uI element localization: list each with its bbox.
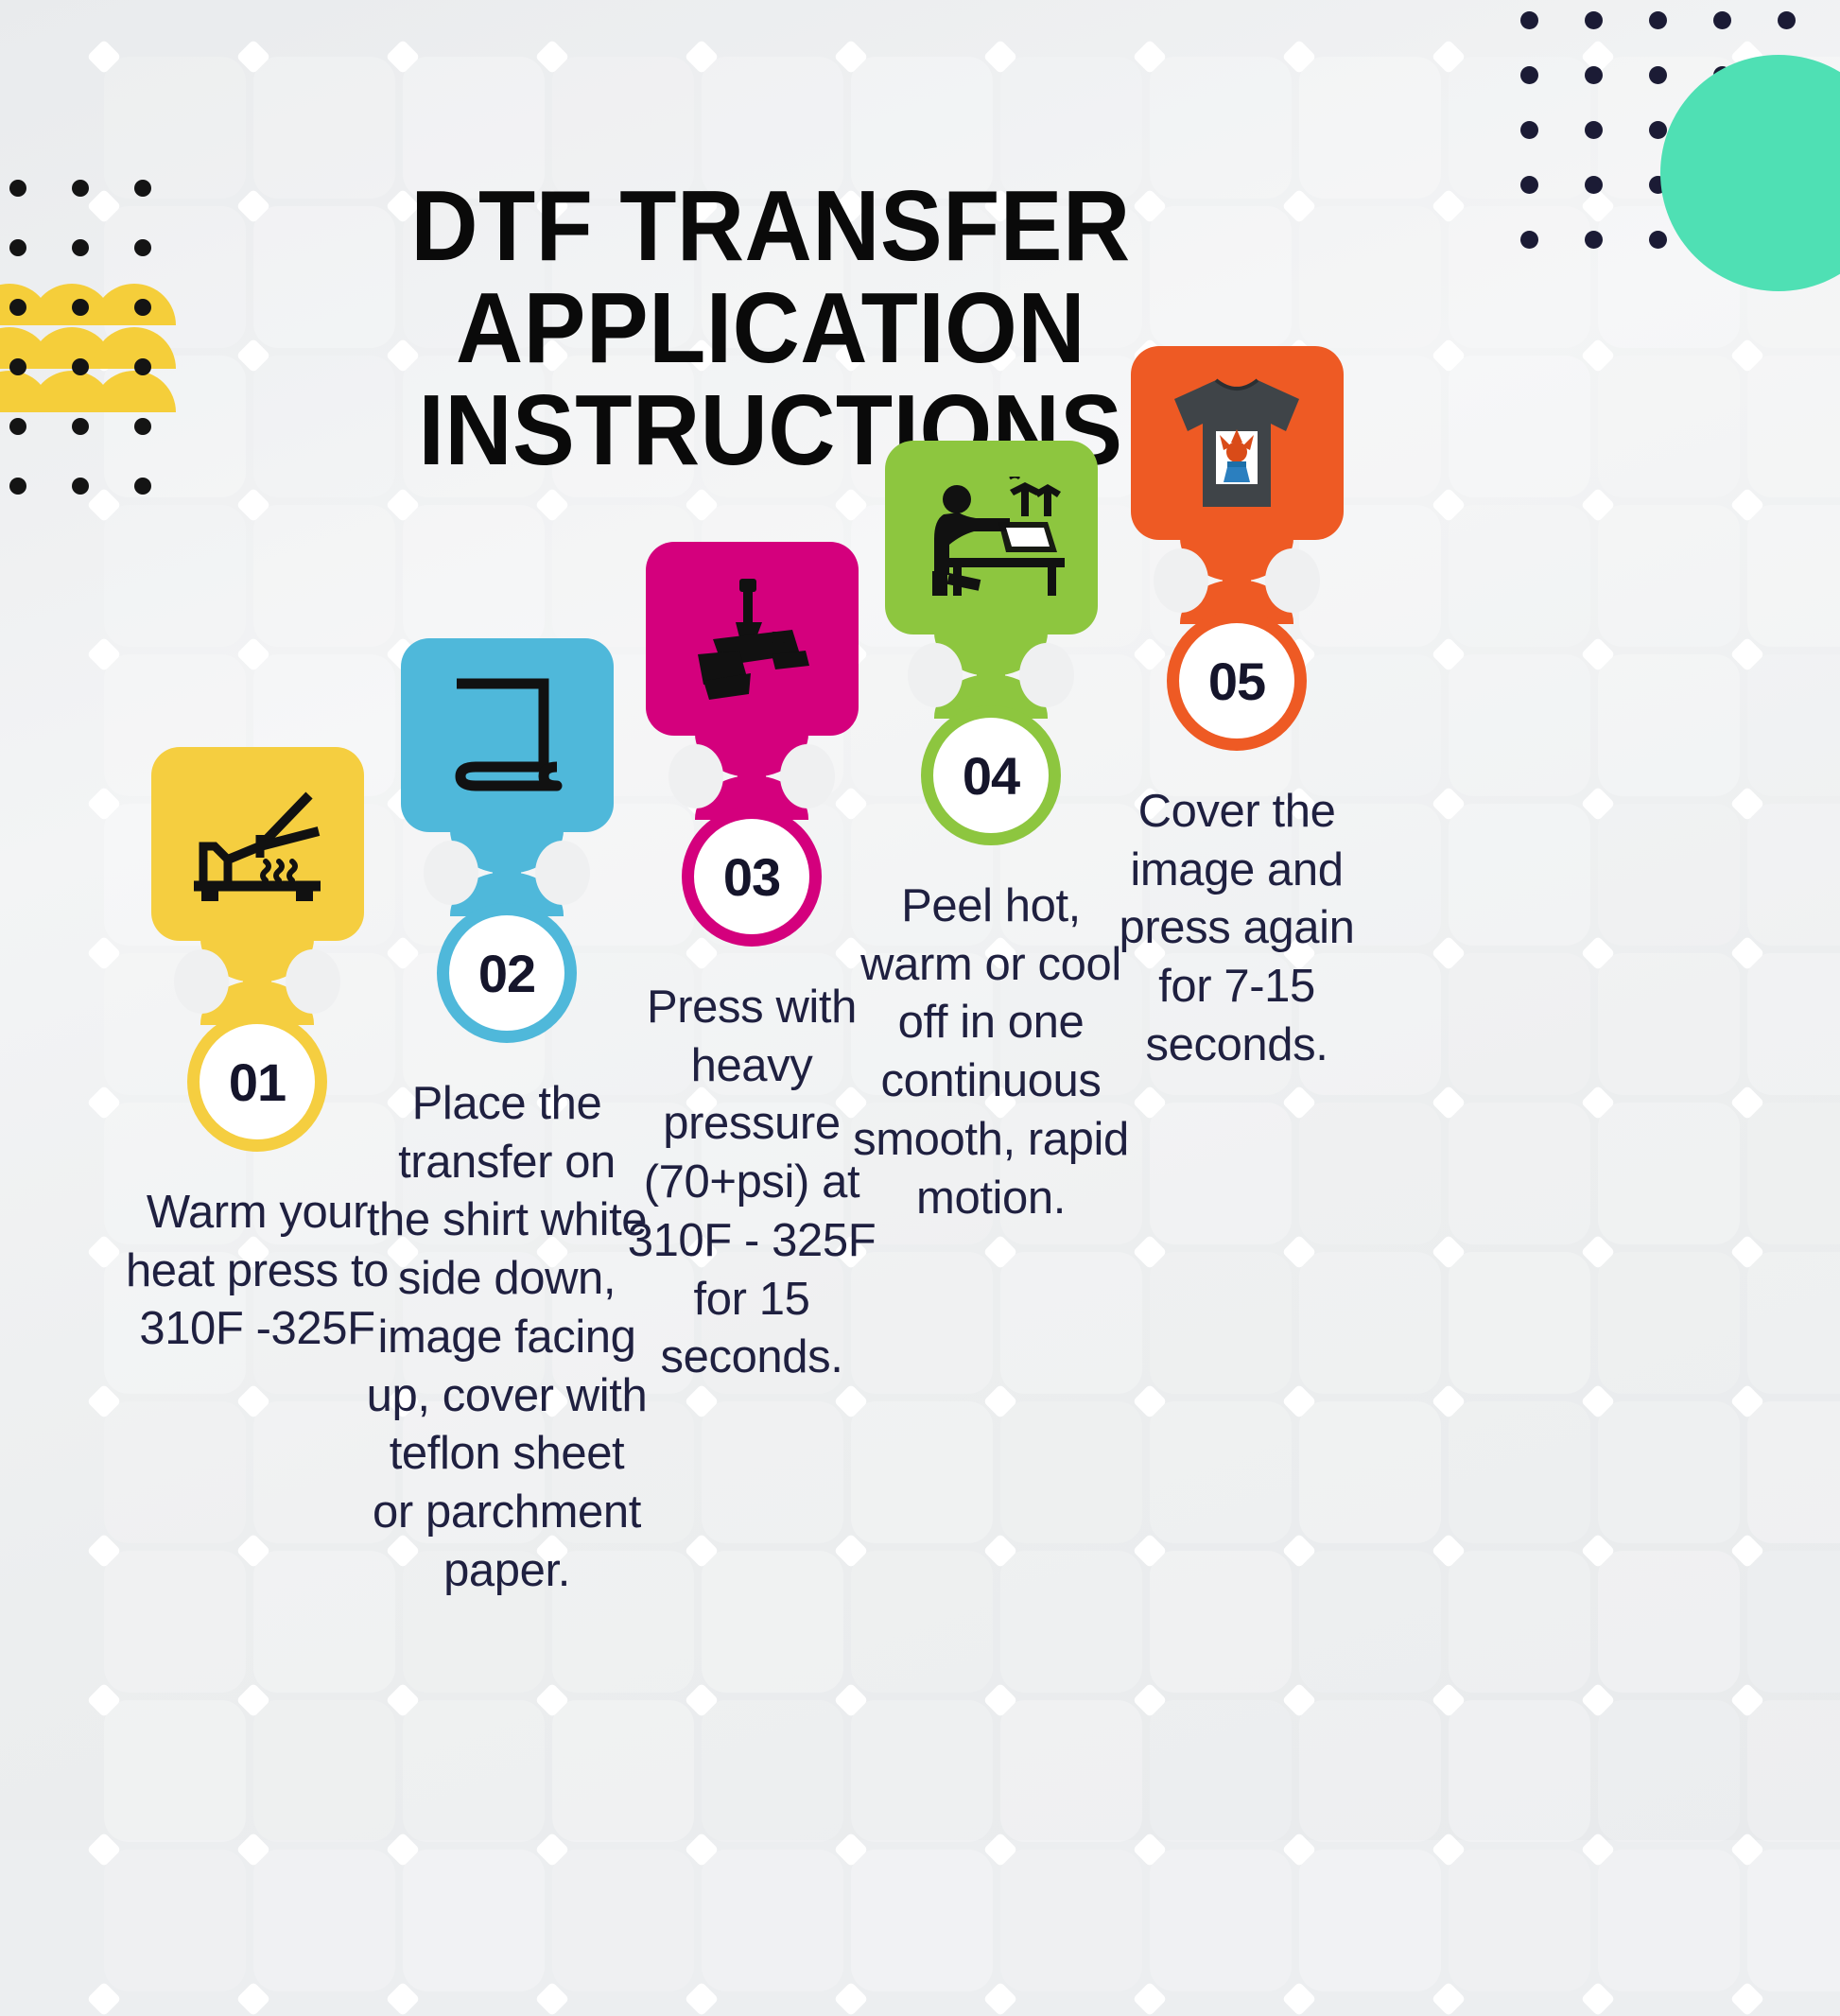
step-5-description: Cover the image and press again for 7-15… <box>1095 783 1379 1075</box>
step-3-number-badge: 03 <box>682 807 822 947</box>
transfer-sheet-icon <box>443 676 571 794</box>
step-item-4: 04 Peel hot, warm or cool off in one con… <box>849 441 1133 1227</box>
step-5-number: 05 <box>1208 651 1265 712</box>
step-1-icon-card[interactable] <box>151 747 364 941</box>
step-1-number-badge: 01 <box>187 1012 327 1152</box>
heat-press-icon <box>186 788 328 901</box>
step-item-1: 01 Warm your heat press to 310F -325F <box>115 747 399 1359</box>
step-2-icon-card[interactable] <box>401 638 614 832</box>
step-4-icon-card[interactable] <box>885 441 1098 634</box>
step-2-description: Place the transfer on the shirt white si… <box>365 1075 649 1601</box>
step-2-number: 02 <box>478 943 535 1004</box>
step-4-description: Peel hot, warm or cool off in one contin… <box>849 878 1133 1227</box>
step-4-number: 04 <box>963 745 1019 807</box>
step-5-number-badge: 05 <box>1167 611 1307 751</box>
peel-transfer-icon <box>915 477 1067 600</box>
step-3-number: 03 <box>723 846 780 908</box>
step-1-number: 01 <box>229 1051 286 1113</box>
step-item-5: 05 Cover the image and press again for 7… <box>1095 346 1379 1075</box>
step-2-number-badge: 02 <box>437 903 577 1043</box>
step-3-icon-card[interactable] <box>646 542 859 736</box>
press-pressure-icon <box>681 575 823 703</box>
step-item-2: 02 Place the transfer on the shirt white… <box>365 638 649 1601</box>
step-1-description: Warm your heat press to 310F -325F <box>115 1184 399 1359</box>
step-5-icon-card[interactable] <box>1131 346 1344 540</box>
printed-shirt-icon <box>1161 373 1312 514</box>
step-4-number-badge: 04 <box>921 705 1061 845</box>
